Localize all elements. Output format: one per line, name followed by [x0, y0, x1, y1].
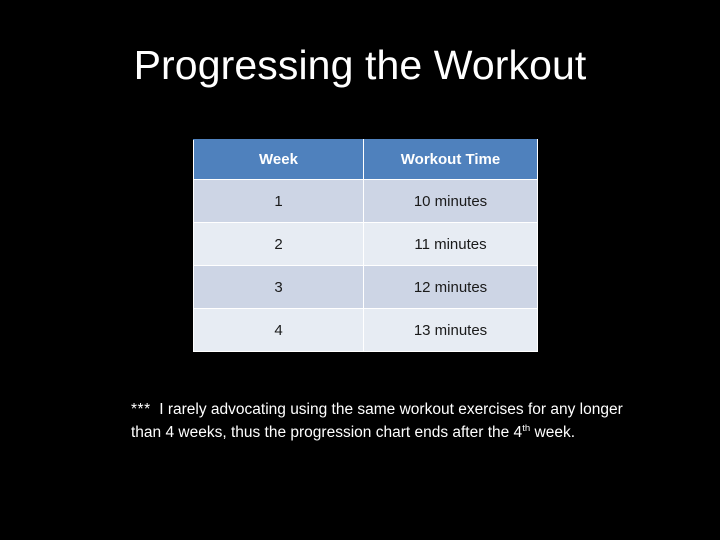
table-row: 2 11 minutes — [194, 223, 538, 266]
footnote-text-trailing: week. — [530, 424, 575, 441]
table-row: 4 13 minutes — [194, 309, 538, 352]
cell-workout-time: 12 minutes — [364, 266, 538, 309]
table-row: 3 12 minutes — [194, 266, 538, 309]
cell-workout-time: 11 minutes — [364, 223, 538, 266]
cell-week: 2 — [194, 223, 364, 266]
page-title: Progressing the Workout — [0, 44, 720, 87]
footnote: *** I rarely advocating using the same w… — [131, 398, 623, 444]
column-header-workout-time: Workout Time — [364, 140, 538, 180]
slide-canvas: Progressing the Workout Week Workout Tim… — [0, 0, 720, 540]
table-header-row: Week Workout Time — [194, 140, 538, 180]
progression-table: Week Workout Time 1 10 minutes 2 11 minu… — [193, 139, 538, 352]
footnote-marker: *** — [131, 401, 151, 418]
cell-week: 4 — [194, 309, 364, 352]
cell-workout-time: 13 minutes — [364, 309, 538, 352]
cell-week: 1 — [194, 180, 364, 223]
table-header: Week Workout Time — [194, 140, 538, 180]
cell-workout-time: 10 minutes — [364, 180, 538, 223]
column-header-week: Week — [194, 140, 364, 180]
table-body: 1 10 minutes 2 11 minutes 3 12 minutes 4… — [194, 180, 538, 352]
footnote-ordinal-suffix: th — [522, 423, 530, 434]
progression-table-container: Week Workout Time 1 10 minutes 2 11 minu… — [193, 139, 537, 352]
cell-week: 3 — [194, 266, 364, 309]
table-row: 1 10 minutes — [194, 180, 538, 223]
